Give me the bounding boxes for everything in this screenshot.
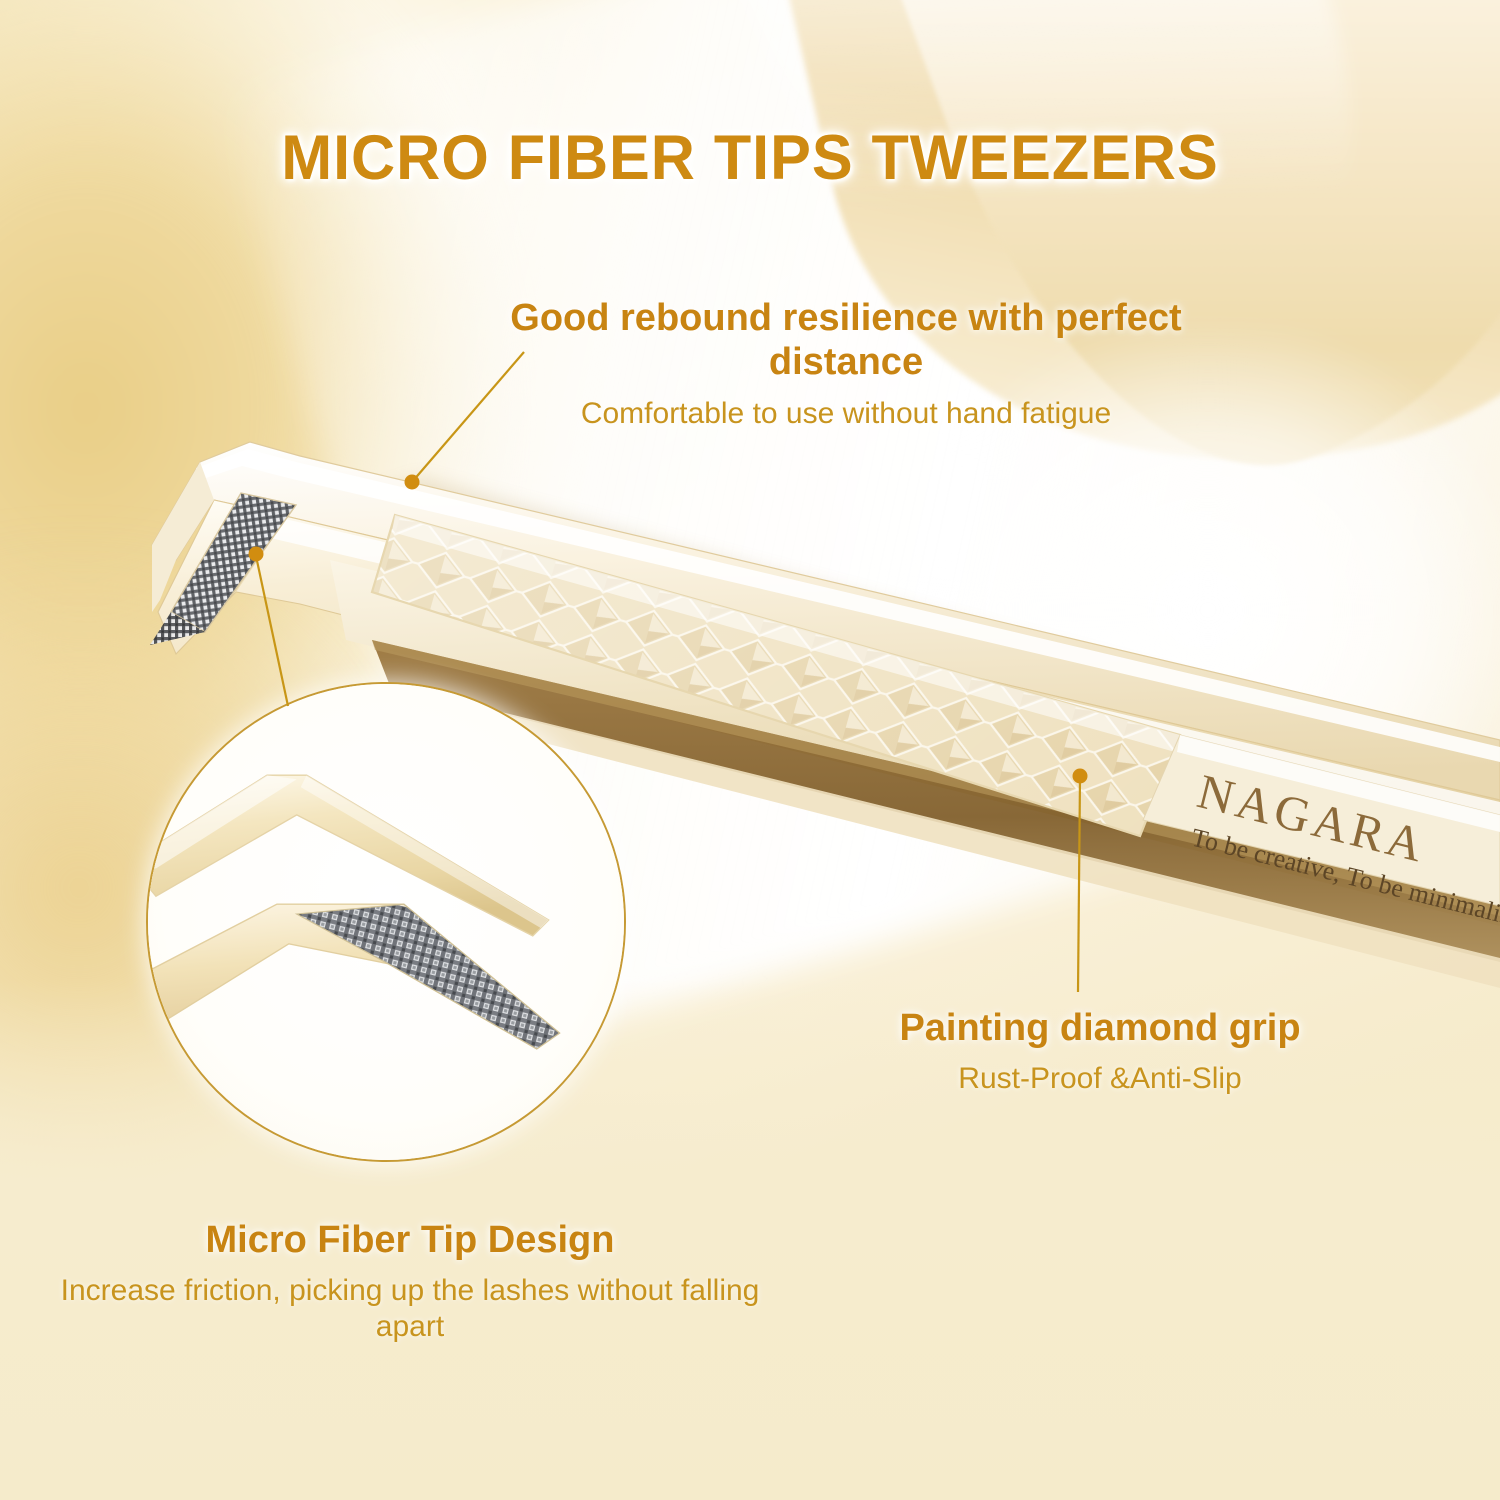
callout-rebound-subtext: Comfortable to use without hand fatigue <box>466 396 1226 432</box>
callout-rebound: Good rebound resilience with perfect dis… <box>466 296 1226 432</box>
callout-grip-subtext: Rust-Proof &Anti-Slip <box>800 1061 1400 1097</box>
callout-tip: Micro Fiber Tip Design Increase friction… <box>60 1218 760 1345</box>
callout-tip-heading: Micro Fiber Tip Design <box>60 1218 760 1262</box>
callout-tip-subtext: Increase friction, picking up the lashes… <box>60 1273 760 1345</box>
callout-rebound-heading: Good rebound resilience with perfect dis… <box>466 296 1226 384</box>
product-infographic: MICRO FIBER TIPS TWEEZERS Good rebound r… <box>0 0 1500 1500</box>
micro-fiber-tip-magnifier <box>146 682 626 1162</box>
page-title: MICRO FIBER TIPS TWEEZERS <box>23 122 1478 194</box>
callout-grip-heading: Painting diamond grip <box>800 1006 1400 1050</box>
callout-grip: Painting diamond grip Rust-Proof &Anti-S… <box>800 1006 1400 1097</box>
